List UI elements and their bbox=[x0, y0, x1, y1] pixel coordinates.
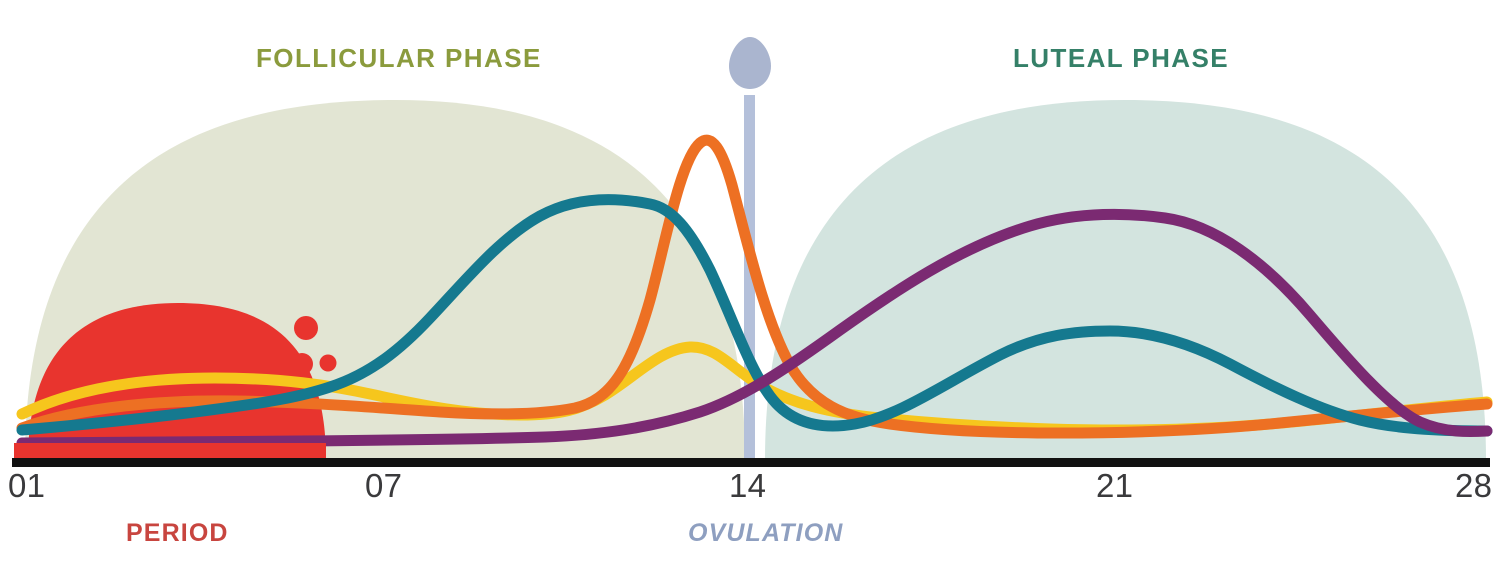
ovulation-label: OVULATION bbox=[688, 519, 844, 548]
x-axis-line bbox=[12, 458, 1490, 467]
luteal-phase-label: LUTEAL PHASE bbox=[1013, 43, 1229, 74]
axis-tick-day-07: 07 bbox=[365, 467, 402, 505]
flow-dot-small-icon bbox=[320, 355, 337, 372]
axis-tick-day-28: 28 bbox=[1455, 467, 1492, 505]
egg-icon bbox=[729, 37, 771, 89]
follicular-phase-label: FOLLICULAR PHASE bbox=[256, 43, 542, 74]
axis-tick-day-21: 21 bbox=[1096, 467, 1133, 505]
menstrual-cycle-chart: FOLLICULAR PHASE LUTEAL PHASE 01 07 14 2… bbox=[0, 0, 1500, 577]
period-label: PERIOD bbox=[126, 519, 229, 548]
axis-tick-day-14: 14 bbox=[729, 467, 766, 505]
flow-dot-medium-icon bbox=[291, 353, 313, 375]
flow-dot-large-icon bbox=[294, 316, 318, 340]
luteal-phase-region bbox=[765, 100, 1486, 460]
period-axis-band bbox=[14, 443, 326, 460]
axis-tick-day-01: 01 bbox=[8, 467, 45, 505]
